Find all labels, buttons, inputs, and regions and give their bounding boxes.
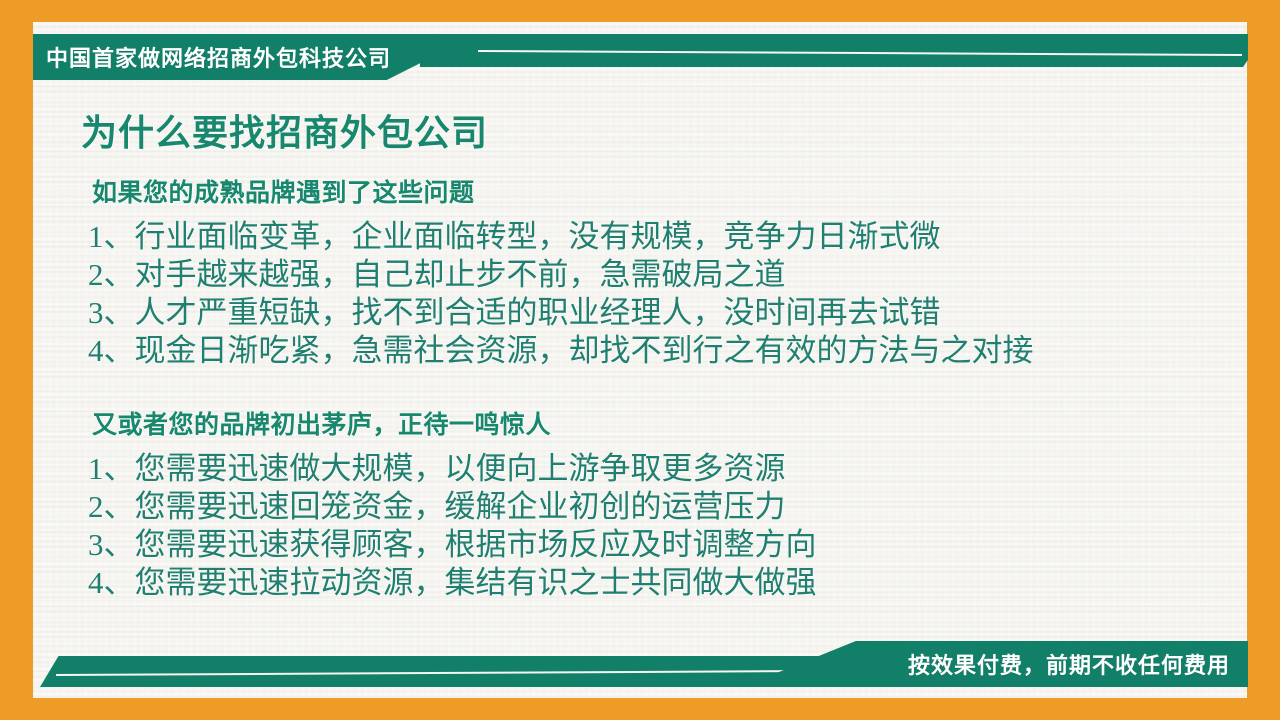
- list-new-brand: 1、您需要迅速做大规模，以便向上游争取更多资源 2、您需要迅速回笼资金，缓解企业…: [78, 450, 1208, 602]
- section-spacer: [78, 378, 1208, 410]
- list-item: 4、现金日渐吃紧，急需社会资源，却找不到行之有效的方法与之对接: [88, 332, 1208, 370]
- section-heading-new-brand: 又或者您的品牌初出茅庐，正待一鸣惊人: [92, 410, 1208, 440]
- footer-tagline-label: 按效果付费，前期不收任何费用: [908, 648, 1230, 680]
- list-item: 4、您需要迅速拉动资源，集结有识之士共同做大做强: [88, 564, 1208, 602]
- section-mature-brand: 如果您的成熟品牌遇到了这些问题 1、行业面临变革，企业面临转型，没有规模，竞争力…: [78, 178, 1208, 370]
- list-item: 3、您需要迅速获得顾客，根据市场反应及时调整方向: [88, 526, 1208, 564]
- list-item: 2、您需要迅速回笼资金，缓解企业初创的运营压力: [88, 488, 1208, 526]
- page-title: 为什么要找招商外包公司: [81, 112, 1208, 154]
- header-tagline-label: 中国首家做网络招商外包科技公司: [46, 41, 391, 73]
- slide-body: 为什么要找招商外包公司 如果您的成熟品牌遇到了这些问题 1、行业面临变革，企业面…: [78, 112, 1208, 610]
- list-mature-brand: 1、行业面临变革，企业面临转型，没有规模，竞争力日渐式微 2、对手越来越强，自己…: [78, 218, 1208, 370]
- list-item: 1、您需要迅速做大规模，以便向上游争取更多资源: [88, 450, 1208, 488]
- list-item: 2、对手越来越强，自己却止步不前，急需破局之道: [88, 256, 1208, 294]
- list-item: 3、人才严重短缺，找不到合适的职业经理人，没时间再去试错: [88, 294, 1208, 332]
- slide: 中国首家做网络招商外包科技公司 为什么要找招商外包公司 如果您的成熟品牌遇到了这…: [0, 0, 1280, 720]
- section-heading-mature-brand: 如果您的成熟品牌遇到了这些问题: [92, 178, 1208, 208]
- section-new-brand: 又或者您的品牌初出茅庐，正待一鸣惊人 1、您需要迅速做大规模，以便向上游争取更多…: [78, 410, 1208, 602]
- list-item: 1、行业面临变革，企业面临转型，没有规模，竞争力日渐式微: [88, 218, 1208, 256]
